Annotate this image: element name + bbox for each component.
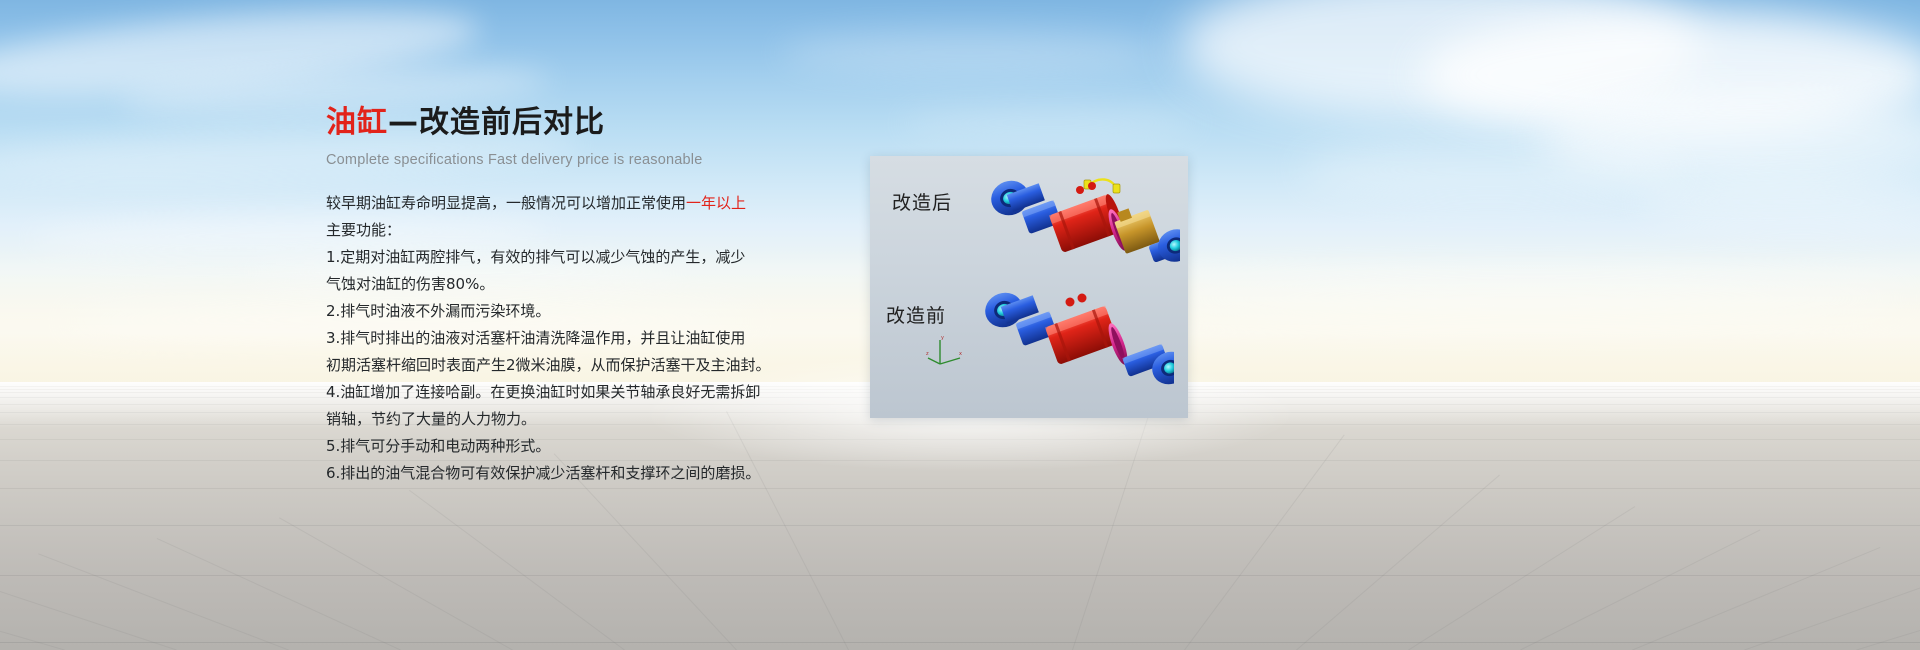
paving-seam [1520, 530, 1760, 650]
intro-highlight: 一年以上 [686, 194, 746, 212]
banner-stage: 油缸—改造前后对比 Complete specifications Fast d… [0, 0, 1920, 650]
cylinder-after-render [980, 168, 1180, 288]
paving-seam [1856, 571, 1920, 650]
cylinder-before-render [974, 282, 1174, 397]
paving-seam [0, 575, 65, 650]
paving-line [0, 642, 1920, 643]
feature-line: 初期活塞杆缩回时表面产生2微米油膜，从而保护活塞干及主油封。 [326, 352, 846, 379]
coordinate-axis-icon: y x z [926, 334, 966, 368]
cad-comparison-panel: 改造后 改造前 [870, 156, 1188, 418]
paving-line [0, 525, 1920, 526]
page-title: 油缸—改造前后对比 [326, 104, 846, 142]
axis-label-z: z [926, 351, 929, 357]
paving-seam [0, 565, 177, 650]
page-subtitle: Complete specifications Fast delivery pr… [326, 152, 846, 168]
text-content: 油缸—改造前后对比 Complete specifications Fast d… [326, 104, 846, 487]
paving-seam [157, 538, 401, 650]
axis-label-y: y [941, 335, 944, 341]
paving-seam [1632, 547, 1880, 650]
intro-line: 较早期油缸寿命明显提高，一般情况可以增加正常使用一年以上 [326, 190, 846, 217]
label-after-modification: 改造后 [892, 188, 952, 215]
paving-line [0, 488, 1920, 489]
paving-seam [279, 517, 513, 650]
page-title-dark: —改造前后对比 [388, 105, 605, 140]
paving-seam [1744, 560, 1920, 650]
feature-line: 气蚀对油缸的伤害80%。 [326, 271, 846, 298]
section-label: 主要功能： [326, 217, 846, 244]
axis-label-x: x [959, 351, 962, 357]
paving-seam [38, 553, 289, 650]
feature-line: 2.排气时油液不外漏而污染环境。 [326, 298, 846, 325]
cloud-streak-icon [900, 105, 1200, 141]
cloud-puff-icon [1300, 140, 1680, 200]
feature-line: 4.油缸增加了连接哈副。在更换油缸时如果关节轴承良好无需拆卸 [326, 379, 846, 406]
page-title-red: 油缸 [326, 105, 388, 140]
feature-line: 6.排出的油气混合物可有效保护减少活塞杆和支撑环之间的磨损。 [326, 460, 846, 487]
feature-line: 3.排气时排出的油液对活塞杆油清洗降温作用，并且让油缸使用 [326, 325, 846, 352]
paving-line [0, 575, 1920, 576]
feature-line: 1.定期对油缸两腔排气，有效的排气可以减少气蚀的产生，减少 [326, 244, 846, 271]
paving-seam [409, 490, 625, 650]
intro-text: 较早期油缸寿命明显提高，一般情况可以增加正常使用 [326, 194, 686, 212]
cloud-streak-icon [780, 30, 1160, 76]
paving-seam [1408, 506, 1635, 650]
feature-description: 较早期油缸寿命明显提高，一般情况可以增加正常使用一年以上 主要功能： 1.定期对… [326, 190, 846, 487]
cloud-puff-icon [1640, 175, 1920, 229]
feature-line: 销轴，节约了大量的人力物力。 [326, 406, 846, 433]
label-before-modification: 改造前 [886, 301, 946, 328]
paving-seam [1296, 475, 1500, 650]
feature-line: 5.排气可分手动和电动两种形式。 [326, 433, 846, 460]
